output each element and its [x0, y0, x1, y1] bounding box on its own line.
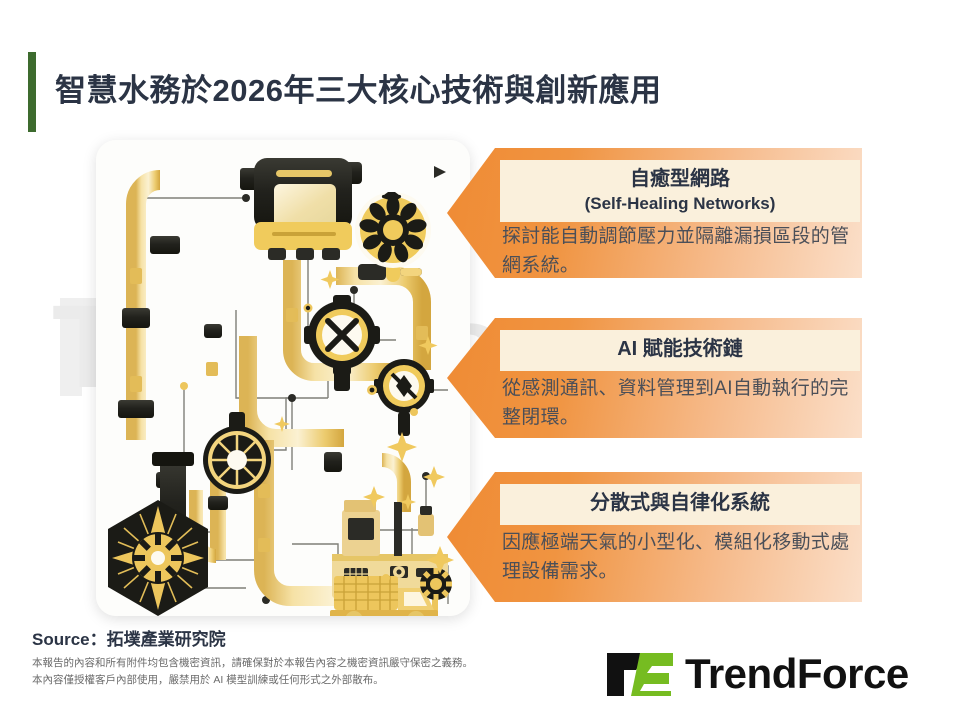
page-title: 智慧水務於2026年三大核心技術與創新應用: [55, 63, 845, 119]
illustration-card: [96, 140, 470, 616]
callout-title-en: (Self-Healing Networks): [500, 193, 860, 215]
callout-header: AI 賦能技術鏈: [500, 330, 860, 371]
callout-self-healing-networks[interactable]: 自癒型網路 (Self-Healing Networks) 探討能自動調節壓力並…: [447, 148, 872, 278]
callout-header: 分散式與自律化系統: [500, 484, 860, 525]
slide-canvas: TrendForce 智慧水務於2026年三大核心技術與創新應用: [0, 0, 960, 720]
callout-header: 自癒型網路 (Self-Healing Networks): [500, 160, 860, 222]
title-accent-bar: [28, 52, 36, 132]
callout-title-cn: 分散式與自律化系統: [500, 491, 860, 517]
svg-text:TrendForce: TrendForce: [685, 650, 909, 697]
callout-body: 因應極端天氣的小型化、模組化移動式處理設備需求。: [502, 528, 852, 587]
trendforce-logo: TrendForce: [603, 648, 935, 700]
trendforce-logo-mark: [607, 653, 673, 696]
callout-ai-enabled-technology-chain[interactable]: AI 賦能技術鏈 從感測通訊、資料管理到AI自動執行的完整閉環。: [447, 318, 872, 438]
callout-body: 探討能自動調節壓力並隔離漏損區段的管網系統。: [502, 222, 852, 281]
callout-title-cn: AI 賦能技術鏈: [500, 337, 860, 363]
disclaimer-text: 本報告的內容和所有附件均包含機密資訊，請確保對於本報告內容之機密資訊嚴守保密之義…: [32, 655, 473, 689]
source-label: Source：拓墣產業研究院: [32, 625, 226, 650]
disclaimer-line-2: 本內容僅授權客戶內部使用，嚴禁用於 AI 模型訓練或任何形式之外部散布。: [32, 672, 473, 689]
callout-decentralized-autonomous-systems[interactable]: 分散式與自律化系統 因應極端天氣的小型化、模組化移動式處理設備需求。: [447, 472, 872, 602]
callout-body: 從感測通訊、資料管理到AI自動執行的完整閉環。: [502, 374, 852, 433]
callout-title-cn: 自癒型網路: [500, 167, 860, 193]
disclaimer-line-1: 本報告的內容和所有附件均包含機密資訊，請確保對於本報告內容之機密資訊嚴守保密之義…: [32, 655, 473, 672]
